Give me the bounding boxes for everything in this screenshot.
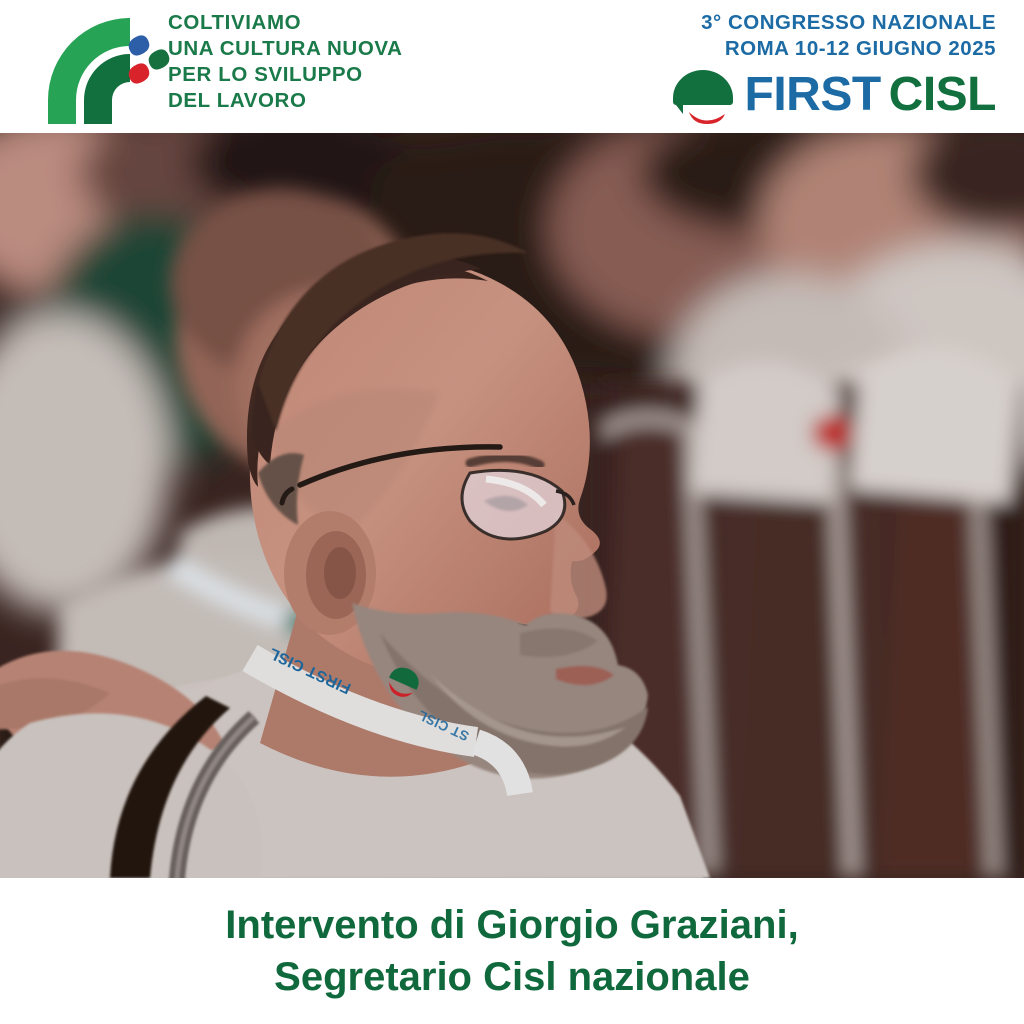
- congress-date-location: ROMA 10-12 GIUGNO 2025: [576, 36, 996, 62]
- c-arc-leaves-logo-icon: [22, 10, 172, 128]
- conference-photo: FIRST CISL ST CISL: [0, 133, 1024, 878]
- caption-block: Intervento di Giorgio Graziani, Segretar…: [0, 878, 1024, 1024]
- caption-line-1: Intervento di Giorgio Graziani,: [225, 899, 798, 951]
- first-cisl-logo: FIRSTCISL: [669, 62, 997, 128]
- header-bar: COLTIVIAMO UNA CULTURA NUOVA PER LO SVIL…: [0, 0, 1024, 133]
- campaign-slogan-line-3: PER LO SVILUPPO: [168, 62, 468, 88]
- first-cisl-wordmark: FIRSTCISL: [745, 71, 997, 119]
- brand-word-first: FIRST: [745, 68, 881, 121]
- campaign-slogan-line-4: DEL LAVORO: [168, 88, 468, 114]
- campaign-slogan: COLTIVIAMO UNA CULTURA NUOVA PER LO SVIL…: [168, 10, 468, 114]
- campaign-slogan-line-2: UNA CULTURA NUOVA: [168, 36, 468, 62]
- first-cisl-speech-bubble-icon: [669, 62, 737, 128]
- social-card: COLTIVIAMO UNA CULTURA NUOVA PER LO SVIL…: [0, 0, 1024, 1024]
- brand-word-cisl: CISL: [889, 68, 996, 121]
- campaign-slogan-line-1: COLTIVIAMO: [168, 10, 468, 36]
- caption-line-2: Segretario Cisl nazionale: [274, 951, 750, 1003]
- congress-title: 3° CONGRESSO NAZIONALE: [576, 10, 996, 36]
- congress-info: 3° CONGRESSO NAZIONALE ROMA 10-12 GIUGNO…: [576, 10, 996, 62]
